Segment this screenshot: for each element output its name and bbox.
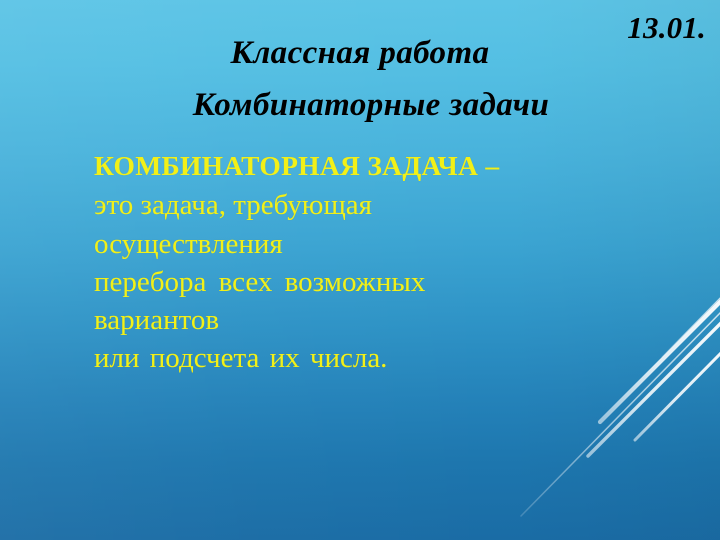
slide-title-group: Классная работа Комбинаторные задачи — [0, 34, 720, 125]
presentation-slide: 13.01. Классная работа Комбинаторные зад… — [0, 0, 720, 540]
slide-title-primary: Классная работа — [0, 34, 720, 73]
definition-body-line-3: перебора всех возможных — [94, 263, 694, 301]
definition-term-line: КОМБИНАТОРНАЯ ЗАДАЧА – — [94, 148, 694, 184]
definition-text-block: КОМБИНАТОРНАЯ ЗАДАЧА – это задача, требу… — [94, 148, 694, 378]
definition-body-line-2: осуществления — [94, 225, 694, 263]
definition-body-line-5: или подсчета их числа. — [94, 339, 694, 377]
definition-body-line-4: вариантов — [94, 301, 694, 339]
slide-title-secondary: Комбинаторные задачи — [0, 86, 720, 125]
definition-body-line-1: это задача, требующая — [94, 186, 694, 224]
